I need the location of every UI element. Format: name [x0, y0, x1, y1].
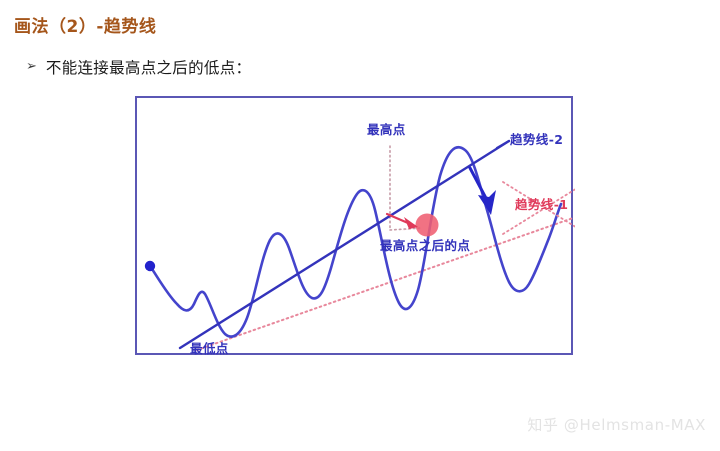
chart-frame: 最高点 趋势线-2 趋势线-1 最高点之后的点 最低点	[135, 96, 573, 355]
bullet-text: 不能连接最高点之后的低点：	[46, 56, 251, 78]
bullet-row: ➢ 不能连接最高点之后的低点：	[26, 56, 251, 78]
trendline-2-label-leader	[497, 141, 509, 148]
point-after-highest-marker	[416, 214, 439, 237]
page-title: 画法（2）-趋势线	[14, 12, 156, 37]
triangle-bullet-icon: ➢	[26, 60, 37, 73]
label-trendline-1: 趋势线-1	[515, 199, 568, 212]
blue-arrow-break-down	[470, 168, 496, 215]
watermark: 知乎 @Helmsman-MAX	[527, 414, 706, 435]
label-trendline-2: 趋势线-2	[510, 134, 563, 147]
label-lowest-point: 最低点	[190, 343, 229, 356]
label-point-after-highest: 最高点之后的点	[380, 240, 470, 253]
label-highest-point: 最高点	[367, 124, 406, 137]
start-point-marker	[145, 261, 155, 271]
price-curve	[150, 147, 561, 336]
